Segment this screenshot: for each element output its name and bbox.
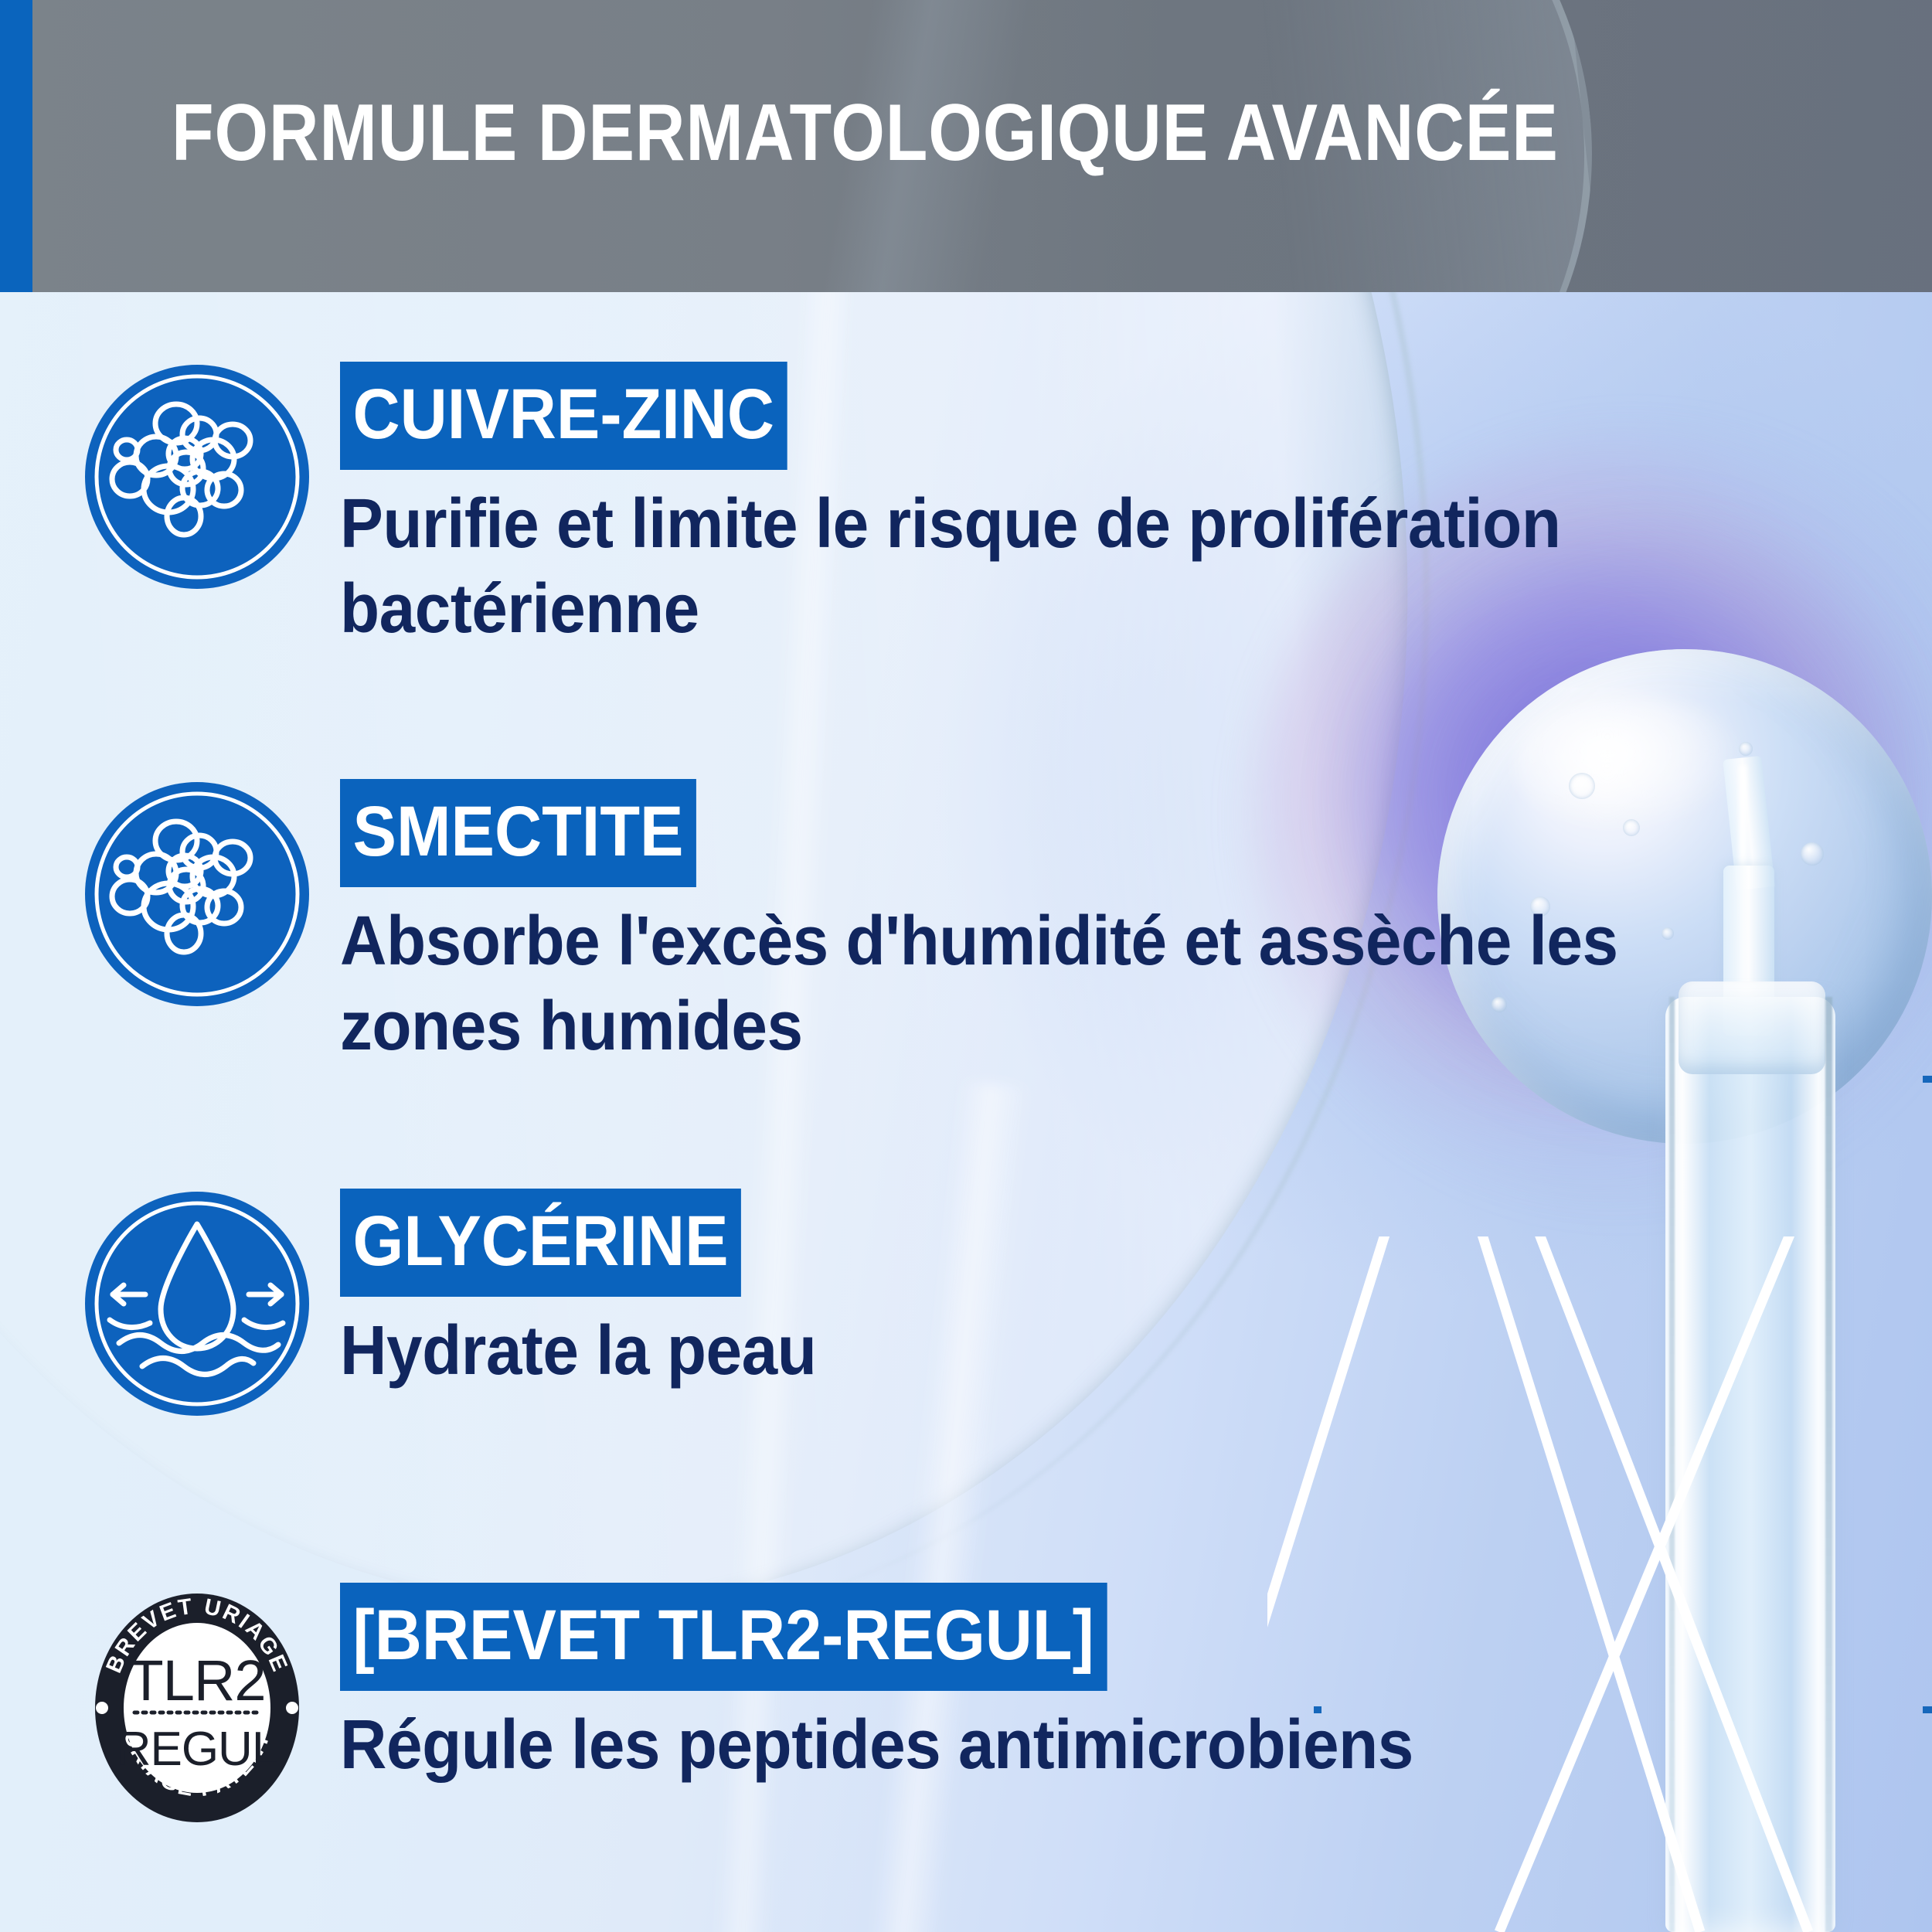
badge-center-line-1: TLR2 <box>129 1648 266 1713</box>
feature-tag-brevet-tlr2-regul: [BREVET TLR2-REGUL] <box>340 1583 1107 1691</box>
water-drop-hydration-icon <box>85 1192 309 1416</box>
tlr2-regul-patent-badge: BREVET URIAGE URIAGE PATENT TLR2 REGUL <box>85 1586 309 1825</box>
icon-column: BREVET URIAGE URIAGE PATENT TLR2 REGUL <box>85 1583 325 1825</box>
feature-tag-glycerine: GLYCÉRINE <box>340 1189 741 1297</box>
edge-mark-left-lower <box>1314 1706 1321 1713</box>
icon-column <box>85 362 325 589</box>
feature-description-cuivre-zinc: Purifie et limite le risque de proliféra… <box>340 482 1770 652</box>
product-infographic-poster: FORMULE DERMATOLOGIQUE AVANCÉE <box>0 0 1932 1932</box>
icon-column <box>85 779 325 1006</box>
header-bar: FORMULE DERMATOLOGIQUE AVANCÉE <box>0 0 1932 292</box>
text-column: [BREVET TLR2-REGUL] Régule les peptides … <box>325 1583 1878 1788</box>
feature-description-brevet-tlr2-regul: Régule les peptides antimicrobiens <box>340 1703 1770 1788</box>
text-column: CUIVRE-ZINC Purifie et limite le risque … <box>325 362 1878 652</box>
feature-tag-smectite: SMECTITE <box>340 779 696 887</box>
feature-description-glycerine: Hydrate la peau <box>340 1309 1770 1394</box>
text-column: SMECTITE Absorbe l'excès d'humidité et a… <box>325 779 1878 1070</box>
edge-mark-right-lower <box>1923 1706 1932 1713</box>
bubble-3 <box>1739 742 1753 756</box>
icon-column <box>85 1189 325 1416</box>
feature-row-glycerine: GLYCÉRINE Hydrate la peau <box>85 1189 1878 1416</box>
page-title: FORMULE DERMATOLOGIQUE AVANCÉE <box>172 91 1559 175</box>
molecule-cluster-icon <box>85 782 309 1006</box>
feature-tag-cuivre-zinc: CUIVRE-ZINC <box>340 362 787 470</box>
header-accent-bar <box>0 0 32 292</box>
text-column: GLYCÉRINE Hydrate la peau <box>325 1189 1878 1394</box>
badge-center-line-2: REGUL <box>117 1723 278 1776</box>
molecule-cluster-icon <box>85 365 309 589</box>
feature-description-smectite: Absorbe l'excès d'humidité et assèche le… <box>340 900 1770 1070</box>
feature-row-cuivre-zinc: CUIVRE-ZINC Purifie et limite le risque … <box>85 362 1878 652</box>
feature-row-brevet-tlr2-regul: BREVET URIAGE URIAGE PATENT TLR2 REGUL [… <box>85 1583 1878 1825</box>
edge-mark-right-mid <box>1923 1076 1932 1083</box>
feature-row-smectite: SMECTITE Absorbe l'excès d'humidité et a… <box>85 779 1878 1070</box>
